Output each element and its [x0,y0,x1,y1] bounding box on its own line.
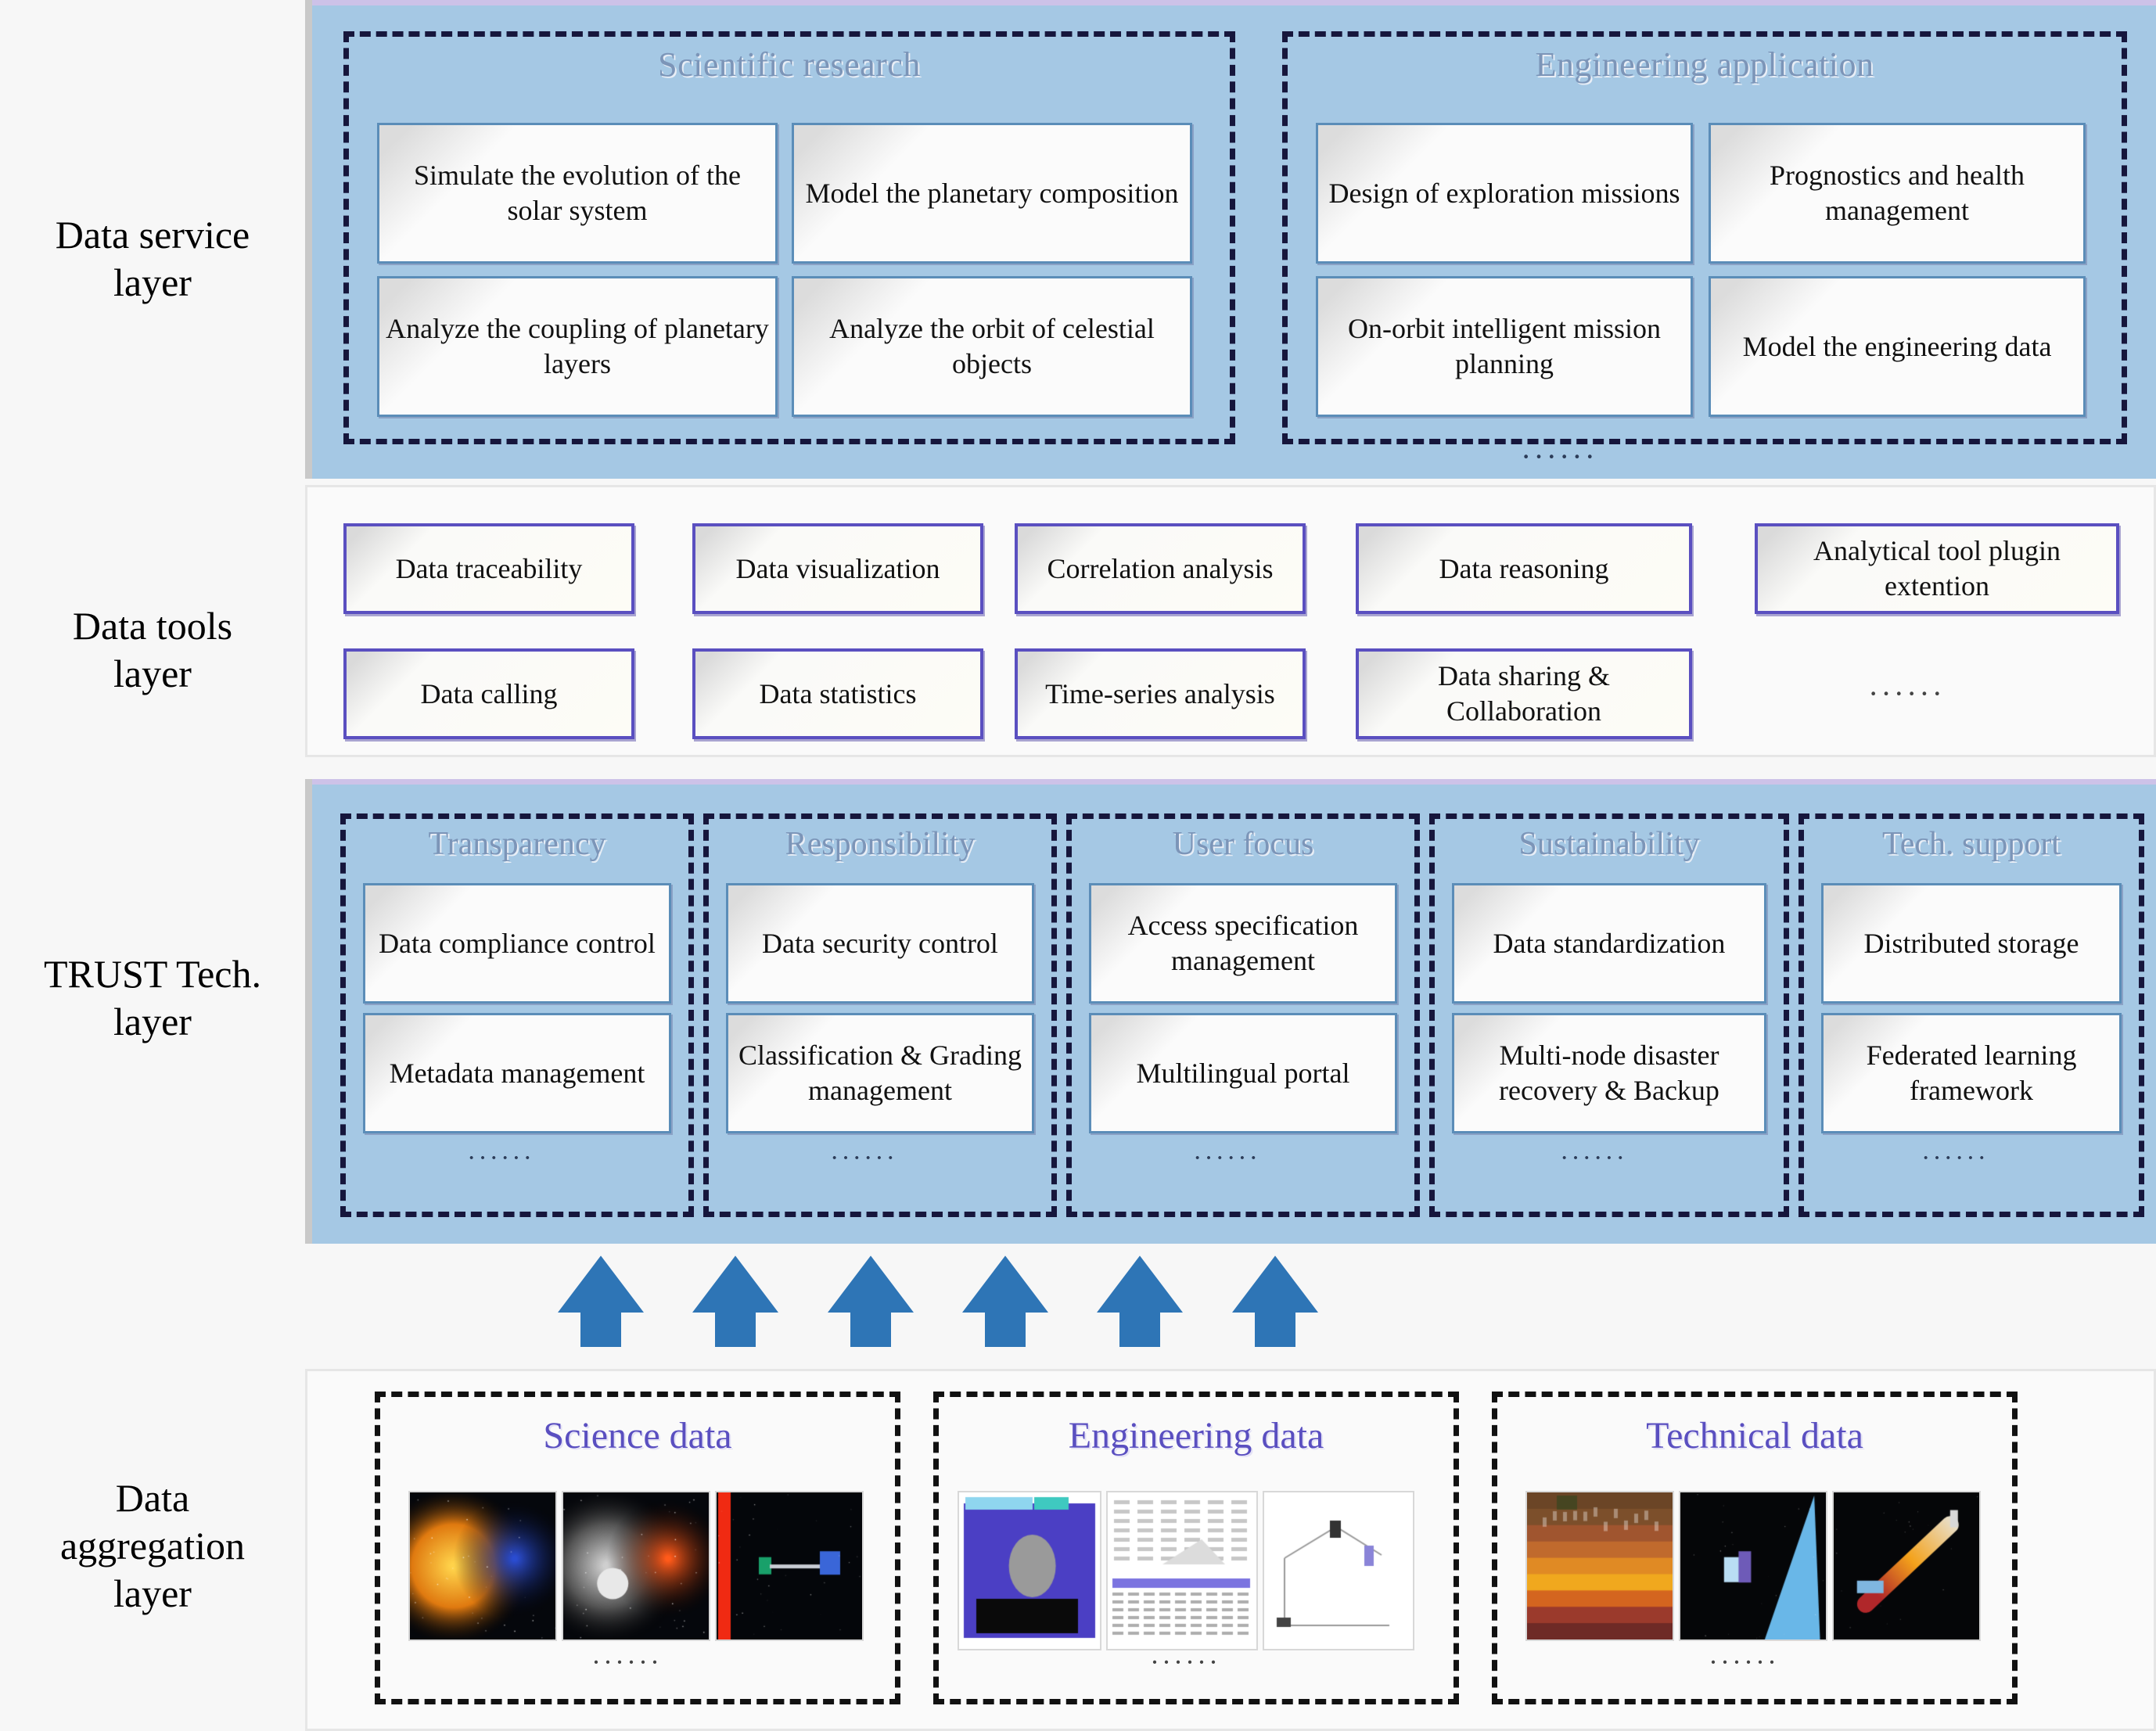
data-thumbnail [1832,1491,1981,1641]
service-card[interactable]: Prognostics and health management [1709,123,2086,264]
tool-card[interactable]: Data calling [343,648,634,739]
tool-card-label: Correlation analysis [1024,551,1296,587]
tool-card-label: Data calling [353,677,625,712]
tool-card[interactable]: Data visualization [692,523,983,614]
pillar-responsibility: Responsibility Data security control Cla… [703,813,1057,1217]
source-title: Science data [380,1414,895,1457]
pillar-ellipsis: ······ [830,1144,897,1173]
pillar-card[interactable]: Federated learning framework [1821,1013,2122,1133]
pillar-card-label: Multi-node disaster recovery & Backup [1461,1038,1758,1108]
service-card-label: Model the planetary composition [800,176,1184,211]
layer-label-data-service: Data service layer [0,211,305,307]
group-engineering-application: Engineering application Design of explor… [1282,31,2127,444]
layer-label-data-tools: Data tools layer [0,602,305,698]
data-thumbnail [1263,1491,1414,1650]
service-card[interactable]: Simulate the evolution of the solar syst… [377,123,778,264]
service-card-label: Prognostics and health management [1717,158,2077,228]
service-card[interactable]: Model the planetary composition [792,123,1192,264]
source-ellipsis: ······ [1709,1646,1779,1679]
up-arrow-icon [962,1255,1048,1348]
data-service-ellipsis: ······ [1521,438,1597,475]
pillar-card-label: Distributed storage [1830,926,2113,961]
pillar-card-label: Federated learning framework [1830,1038,2113,1108]
pillar-card-label: Data standardization [1461,926,1758,961]
source-thumbnails [1525,1491,1981,1641]
pillar-ellipsis: ······ [1560,1144,1627,1173]
group-scientific-research: Scientific research Simulate the evoluti… [343,31,1235,444]
tool-card-label: Data reasoning [1365,551,1683,587]
source-ellipsis: ······ [1150,1646,1220,1679]
tool-card[interactable]: Correlation analysis [1015,523,1306,614]
data-service-layer-panel: Scientific research Simulate the evoluti… [305,0,2156,479]
data-thumbnail [1525,1491,1674,1641]
tool-card[interactable]: Analytical tool plugin extention [1755,523,2119,614]
service-card[interactable]: Design of exploration missions [1316,123,1693,264]
source-science-data: Science data ······ [375,1392,900,1704]
pillar-card[interactable]: Distributed storage [1821,883,2122,1004]
data-thumbnail [1106,1491,1258,1650]
source-title: Technical data [1497,1414,2012,1457]
data-thumbnail [1679,1491,1827,1641]
service-card-label: Design of exploration missions [1324,176,1684,211]
pillar-ellipsis: ······ [467,1144,534,1173]
pillar-card[interactable]: Classification & Grading management [726,1013,1034,1133]
pillar-tech-support: Tech. support Distributed storage Federa… [1798,813,2144,1217]
tool-card-label: Data visualization [702,551,974,587]
tool-card[interactable]: Data statistics [692,648,983,739]
pillar-card[interactable]: Data security control [726,883,1034,1004]
data-aggregation-layer-panel: Science data ······ Engineering data ···… [305,1369,2156,1731]
pillar-card[interactable]: Data compliance control [363,883,671,1004]
tool-card-label: Data sharing & Collaboration [1365,659,1683,729]
service-card-label: On-orbit intelligent mission planning [1324,311,1684,382]
data-tools-ellipsis: ······ [1868,675,1945,712]
up-arrow-icon [1232,1255,1318,1348]
pillar-card-label: Data compliance control [372,926,663,961]
source-engineering-data: Engineering data ······ [933,1392,1459,1704]
pillar-title: Sustainability [1435,825,1784,863]
tool-card[interactable]: Data sharing & Collaboration [1356,648,1692,739]
figure-canvas: Data service layer Data tools layer TRUS… [0,0,2156,1731]
up-arrow-icon [692,1255,778,1348]
data-thumbnail [958,1491,1101,1650]
tool-card-label: Analytical tool plugin extention [1764,533,2110,604]
pillar-card[interactable]: Multi-node disaster recovery & Backup [1452,1013,1766,1133]
group-title: Scientific research [349,45,1230,84]
up-arrow-icon [1097,1255,1183,1348]
pillar-card-label: Access specification management [1098,908,1389,979]
service-card[interactable]: Analyze the coupling of planetary layers [377,276,778,417]
source-thumbnails [408,1491,864,1641]
source-ellipsis: ······ [591,1646,662,1679]
service-card-label: Analyze the coupling of planetary layers [386,311,769,382]
layer-label-data-aggregation: Data aggregation layer [0,1474,305,1618]
service-card-label: Analyze the orbit of celestial objects [800,311,1184,382]
pillar-card[interactable]: Metadata management [363,1013,671,1133]
data-thumbnail [408,1491,557,1641]
pillar-ellipsis: ······ [1193,1144,1260,1173]
pillar-user-focus: User focus Access specification manageme… [1066,813,1420,1217]
pillar-card[interactable]: Multilingual portal [1089,1013,1397,1133]
trust-tech-layer-panel: Transparency Data compliance control Met… [305,779,2156,1244]
layer-label-trust-tech: TRUST Tech. layer [0,950,305,1046]
pillar-card-label: Classification & Grading management [735,1038,1026,1108]
tool-card-label: Data traceability [353,551,625,587]
tool-card-label: Time-series analysis [1024,677,1296,712]
service-card[interactable]: Analyze the orbit of celestial objects [792,276,1192,417]
data-thumbnail [562,1491,710,1641]
pillar-card[interactable]: Data standardization [1452,883,1766,1004]
pillar-sustainability: Sustainability Data standardization Mult… [1429,813,1789,1217]
pillar-card[interactable]: Access specification management [1089,883,1397,1004]
pillar-title: Responsibility [709,825,1051,863]
pillar-title: Transparency [346,825,688,863]
group-title: Engineering application [1288,45,2122,84]
tool-card[interactable]: Time-series analysis [1015,648,1306,739]
pillar-transparency: Transparency Data compliance control Met… [340,813,694,1217]
pillar-card-label: Metadata management [372,1056,663,1091]
service-card[interactable]: Model the engineering data [1709,276,2086,417]
service-card-label: Model the engineering data [1717,329,2077,365]
pillar-card-label: Multilingual portal [1098,1056,1389,1091]
tool-card[interactable]: Data reasoning [1356,523,1692,614]
up-arrow-icon [828,1255,914,1348]
source-thumbnails [958,1491,1414,1650]
data-thumbnail [715,1491,864,1641]
source-title: Engineering data [939,1414,1454,1457]
data-tools-layer-panel: Data traceability Data visualization Cor… [305,485,2156,757]
pillar-ellipsis: ······ [1921,1144,1989,1173]
up-arrow-icon [558,1255,644,1348]
pillar-card-label: Data security control [735,926,1026,961]
service-card-label: Simulate the evolution of the solar syst… [386,158,769,228]
service-card[interactable]: On-orbit intelligent mission planning [1316,276,1693,417]
tool-card[interactable]: Data traceability [343,523,634,614]
pillar-title: Tech. support [1804,825,2139,863]
tool-card-label: Data statistics [702,677,974,712]
source-technical-data: Technical data ······ [1492,1392,2018,1704]
pillar-title: User focus [1072,825,1414,863]
